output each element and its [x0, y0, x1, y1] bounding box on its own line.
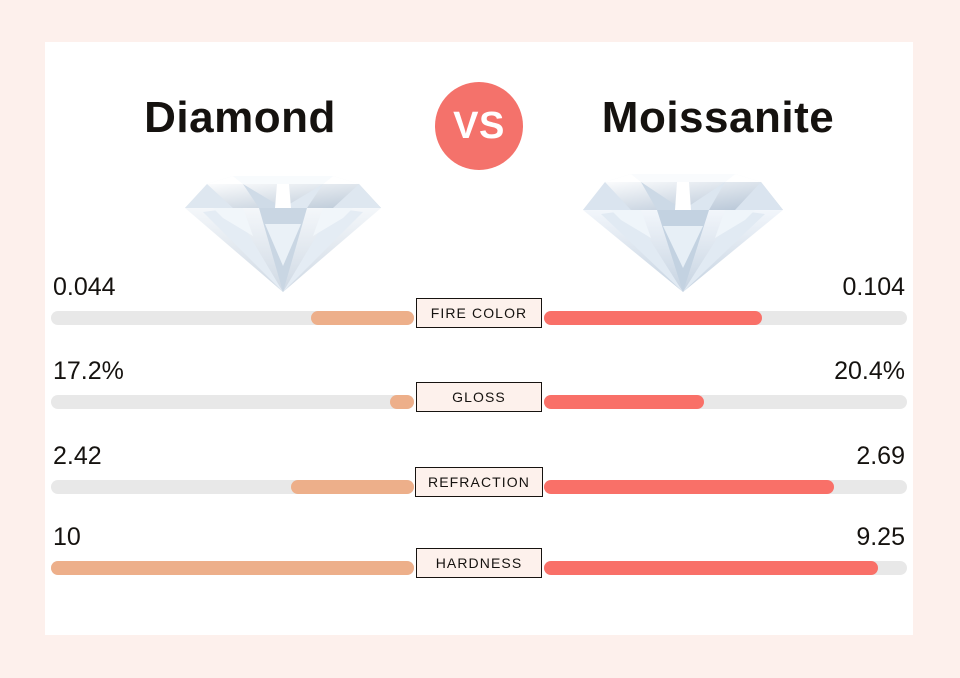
right-value: 2.69: [856, 441, 905, 471]
left-bar-fill: [51, 561, 414, 575]
right-bar-track: [544, 561, 907, 575]
right-value: 20.4%: [834, 356, 905, 386]
comparison-card: Diamond VS Moissanite: [45, 42, 913, 635]
right-bar-fill: [544, 480, 834, 494]
metric-label: FIRE COLOR: [431, 305, 528, 321]
metric-label-chip: HARDNESS: [416, 548, 542, 578]
metric-label-chip: REFRACTION: [415, 467, 543, 497]
comparison-rows: 0.044 0.104 FIRE COLOR 17.2% 20.4% GLOSS: [45, 42, 913, 635]
comparison-row-hardness: 10 9.25 HARDNESS: [45, 508, 913, 592]
right-bar-fill: [544, 311, 762, 325]
metric-label: HARDNESS: [436, 555, 523, 571]
comparison-row-gloss: 17.2% 20.4% GLOSS: [45, 342, 913, 426]
comparison-row-fire-color: 0.044 0.104 FIRE COLOR: [45, 258, 913, 342]
left-bar-track: [51, 561, 414, 575]
left-bar-fill: [311, 311, 414, 325]
left-bar-track: [51, 480, 414, 494]
right-bar-fill: [544, 395, 704, 409]
right-bar-track: [544, 480, 907, 494]
left-bar-fill: [291, 480, 414, 494]
comparison-row-refraction: 2.42 2.69 REFRACTION: [45, 427, 913, 511]
left-bar-fill: [390, 395, 414, 409]
left-bar-track: [51, 395, 414, 409]
right-bar-track: [544, 395, 907, 409]
right-bar-track: [544, 311, 907, 325]
right-value: 9.25: [856, 522, 905, 552]
left-value: 10: [53, 522, 81, 552]
left-value: 17.2%: [53, 356, 124, 386]
left-bar-track: [51, 311, 414, 325]
left-value: 0.044: [53, 272, 116, 302]
right-value: 0.104: [842, 272, 905, 302]
metric-label-chip: FIRE COLOR: [416, 298, 542, 328]
metric-label-chip: GLOSS: [416, 382, 542, 412]
right-bar-fill: [544, 561, 878, 575]
metric-label: GLOSS: [452, 389, 506, 405]
metric-label: REFRACTION: [428, 474, 530, 490]
left-value: 2.42: [53, 441, 102, 471]
